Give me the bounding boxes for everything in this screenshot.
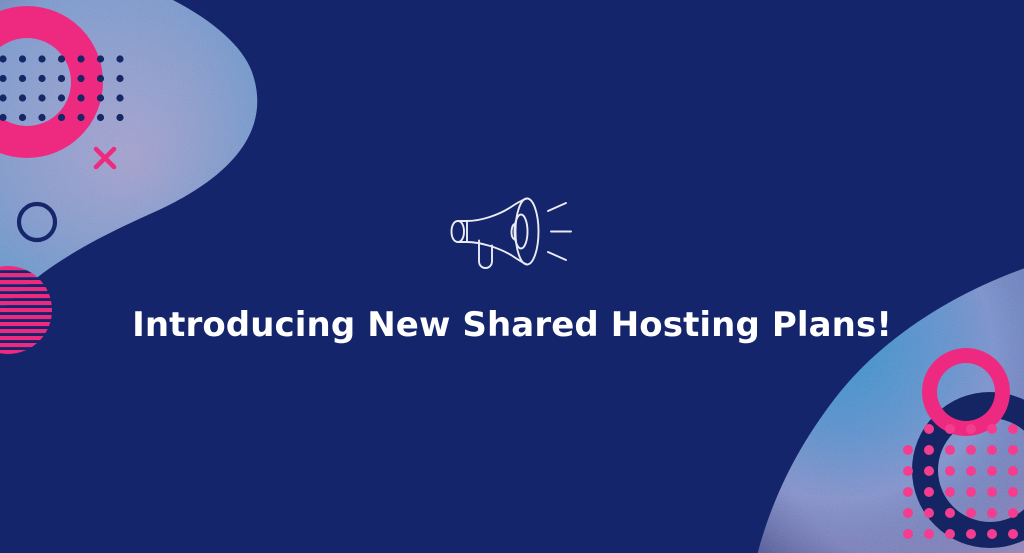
megaphone-icon bbox=[447, 195, 577, 271]
announcement-banner: Introducing New Shared Hosting Plans! bbox=[0, 0, 1024, 553]
page-title: Introducing New Shared Hosting Plans! bbox=[132, 307, 892, 344]
megaphone-icon-svg bbox=[447, 195, 577, 271]
banner-content: Introducing New Shared Hosting Plans! bbox=[0, 0, 1024, 553]
